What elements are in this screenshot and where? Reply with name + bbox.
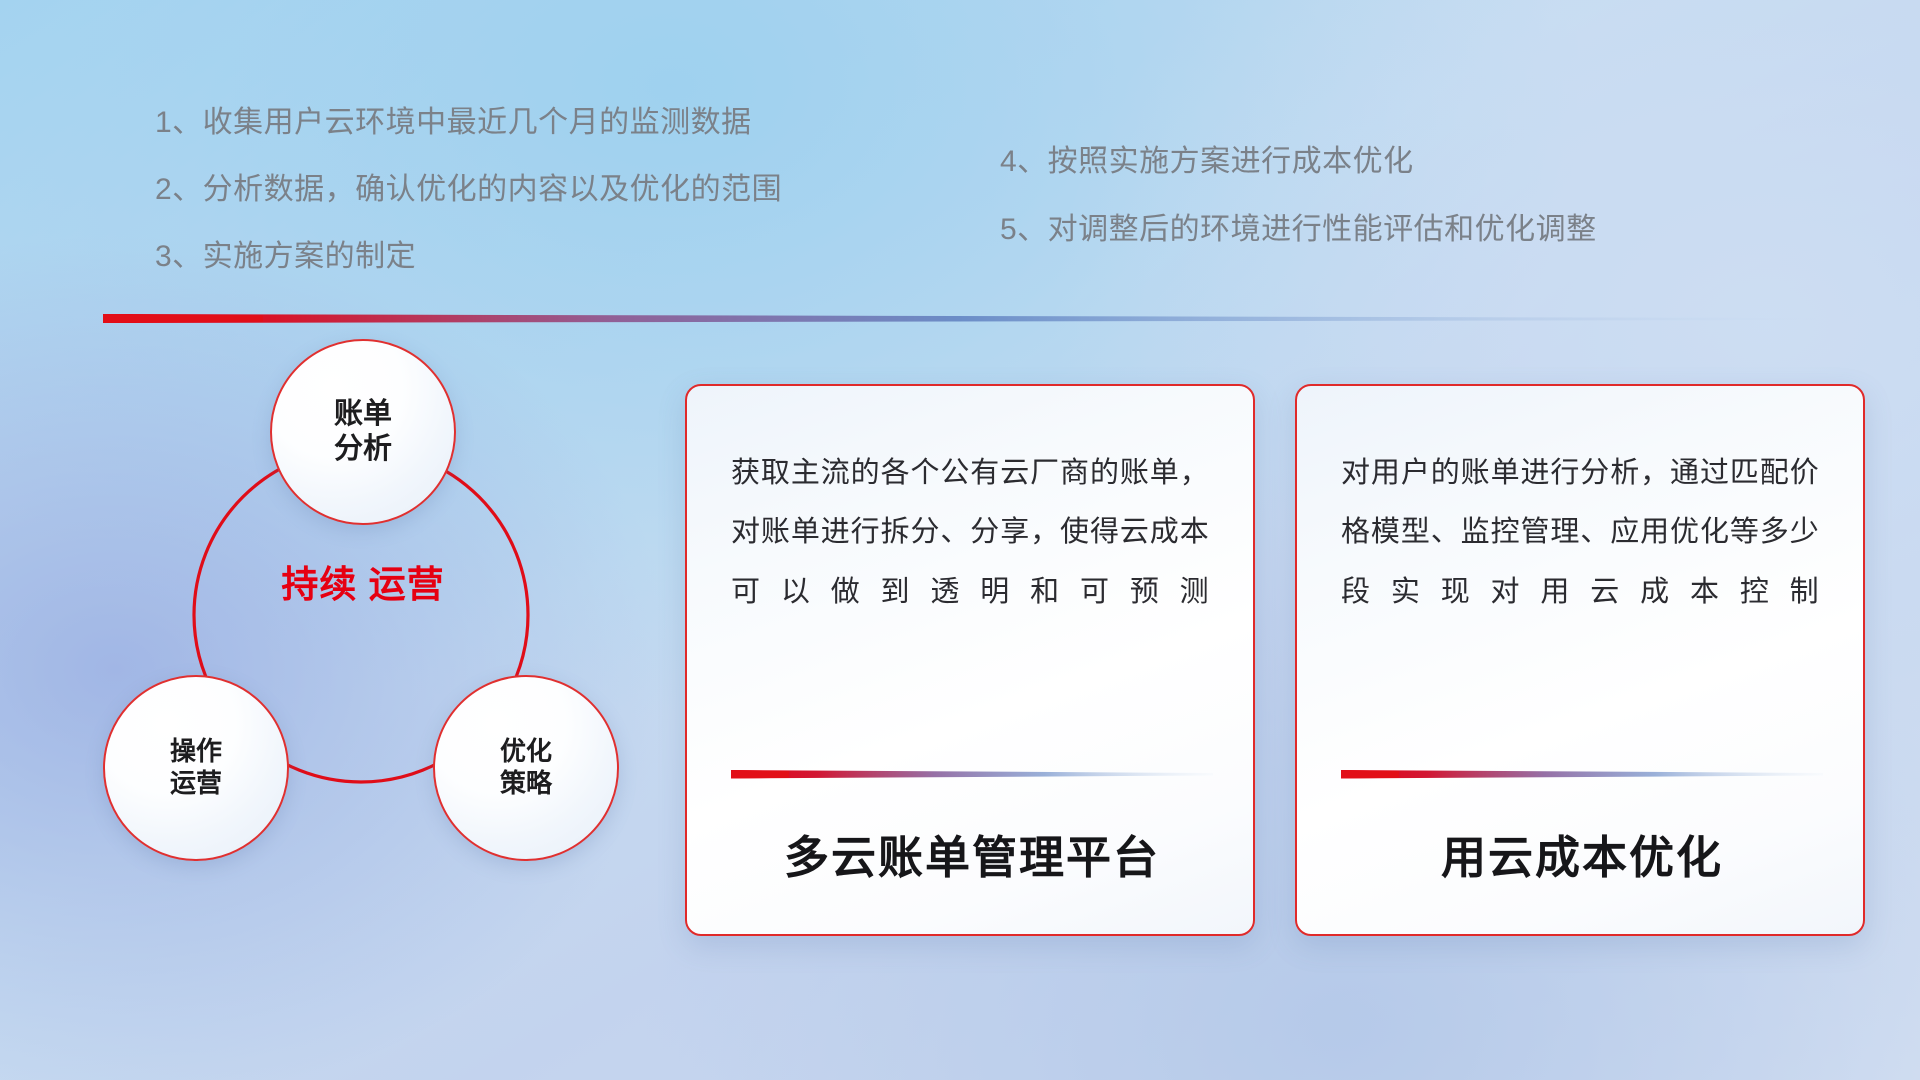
step-item-2: 2、分析数据，确认优化的内容以及优化的范围 [155,175,782,205]
bubble-bill-analysis[interactable]: 账单 分析 [270,339,456,525]
step-item-5: 5、对调整后的环境进行性能评估和优化调整 [1000,215,1597,245]
bubble-top-line1: 账单 [334,397,392,432]
steps-list: 1、收集用户云环境中最近几个月的监测数据 2、分析数据，确认优化的内容以及优化的… [0,0,1920,300]
card-two-body: 对用户的账单进行分析，通过匹配价格模型、监控管理、应用优化等多少段实现对用云成本… [1341,444,1819,622]
venn-center-line1: 持续 [281,564,357,605]
card-one-title: 多云账单管理平台 [731,833,1213,883]
card-one-body: 获取主流的各个公有云厂商的账单，对账单进行拆分、分享，使得云成本可以做到透明和可… [731,444,1209,622]
section-divider [103,312,1816,323]
continuous-operations-diagram: 账单 分析 操作 运营 优化 策略 持续 运营 [100,345,640,965]
steps-left-column: 1、收集用户云环境中最近几个月的监测数据 2、分析数据，确认优化的内容以及优化的… [155,108,782,309]
bubble-right-line2: 策略 [500,768,552,800]
step-item-1: 1、收集用户云环境中最近几个月的监测数据 [155,108,782,138]
card-one-rule [731,767,1213,776]
card-cloud-cost-optimization[interactable]: 对用户的账单进行分析，通过匹配价格模型、监控管理、应用优化等多少段实现对用云成本… [1295,384,1865,936]
card-two-title: 用云成本优化 [1341,833,1823,883]
card-multicloud-billing[interactable]: 获取主流的各个公有云厂商的账单，对账单进行拆分、分享，使得云成本可以做到透明和可… [685,384,1255,936]
bubble-right-line1: 优化 [500,736,552,768]
venn-center-label: 持续 运营 [253,563,473,607]
venn-center-line2: 运营 [369,564,445,605]
steps-right-column: 4、按照实施方案进行成本优化 5、对调整后的环境进行性能评估和优化调整 [1000,147,1597,283]
step-item-4: 4、按照实施方案进行成本优化 [1000,147,1597,177]
card-two-rule [1341,767,1823,776]
bubble-operations[interactable]: 操作 运营 [103,675,289,861]
bubble-optimization-strategy[interactable]: 优化 策略 [433,675,619,861]
step-item-3: 3、实施方案的制定 [155,242,782,272]
slide-canvas: 1、收集用户云环境中最近几个月的监测数据 2、分析数据，确认优化的内容以及优化的… [0,0,1920,1080]
bubble-left-line2: 运营 [170,768,222,800]
bubble-left-line1: 操作 [170,736,222,768]
bubble-top-line2: 分析 [334,432,392,467]
